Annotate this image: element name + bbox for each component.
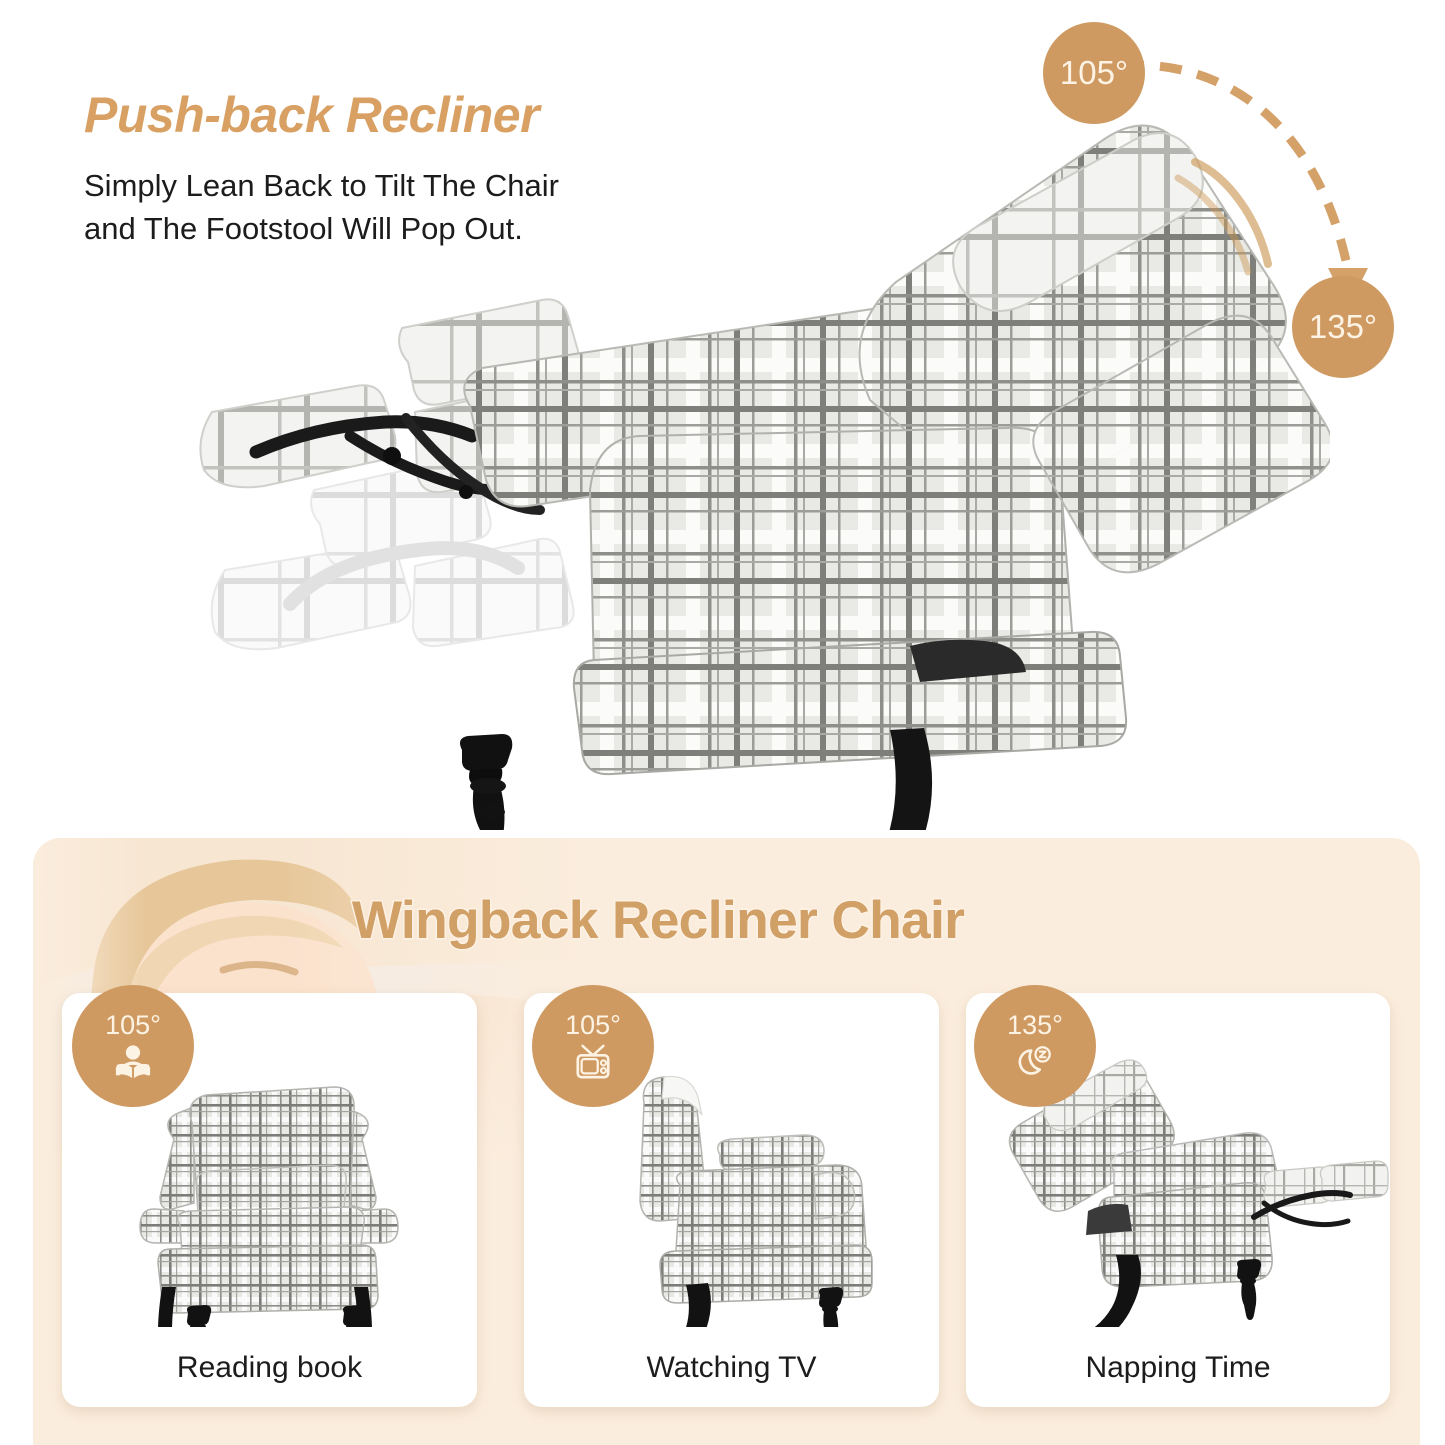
- panel-title: Wingback Recliner Chair: [352, 890, 964, 951]
- front-leg: [460, 734, 512, 830]
- angle-badge-135-label: 135°: [1309, 308, 1377, 346]
- usage-card-napping[interactable]: 135°: [966, 993, 1390, 1407]
- card-label-napping: Napping Time: [966, 1351, 1390, 1385]
- angle-badge-135-top: 135°: [1292, 276, 1394, 378]
- angle-label-card-3: 135°: [1007, 1012, 1063, 1039]
- angle-badge-card-3: 135°: [974, 985, 1096, 1107]
- retro-tv-icon: [574, 1043, 612, 1081]
- angle-badge-105-top: 105°: [1043, 22, 1145, 124]
- angle-label-card-1: 105°: [105, 1012, 161, 1039]
- angle-badge-card-2: 105°: [532, 985, 654, 1107]
- crescent-moon-zzz-icon: [1016, 1043, 1054, 1081]
- usage-card-watching-tv[interactable]: 105°: [524, 993, 939, 1407]
- angle-label-card-2: 105°: [565, 1012, 621, 1039]
- top-feature-section: Push-back Recliner Simply Lean Back to T…: [0, 0, 1445, 838]
- card-label-watching-tv: Watching TV: [524, 1351, 939, 1385]
- usage-card-reading[interactable]: 105°: [62, 993, 477, 1407]
- angle-badge-card-1: 105°: [72, 985, 194, 1107]
- card-label-reading: Reading book: [62, 1351, 477, 1385]
- angle-badge-105-label: 105°: [1060, 54, 1128, 92]
- person-reading-book-icon: [114, 1043, 152, 1081]
